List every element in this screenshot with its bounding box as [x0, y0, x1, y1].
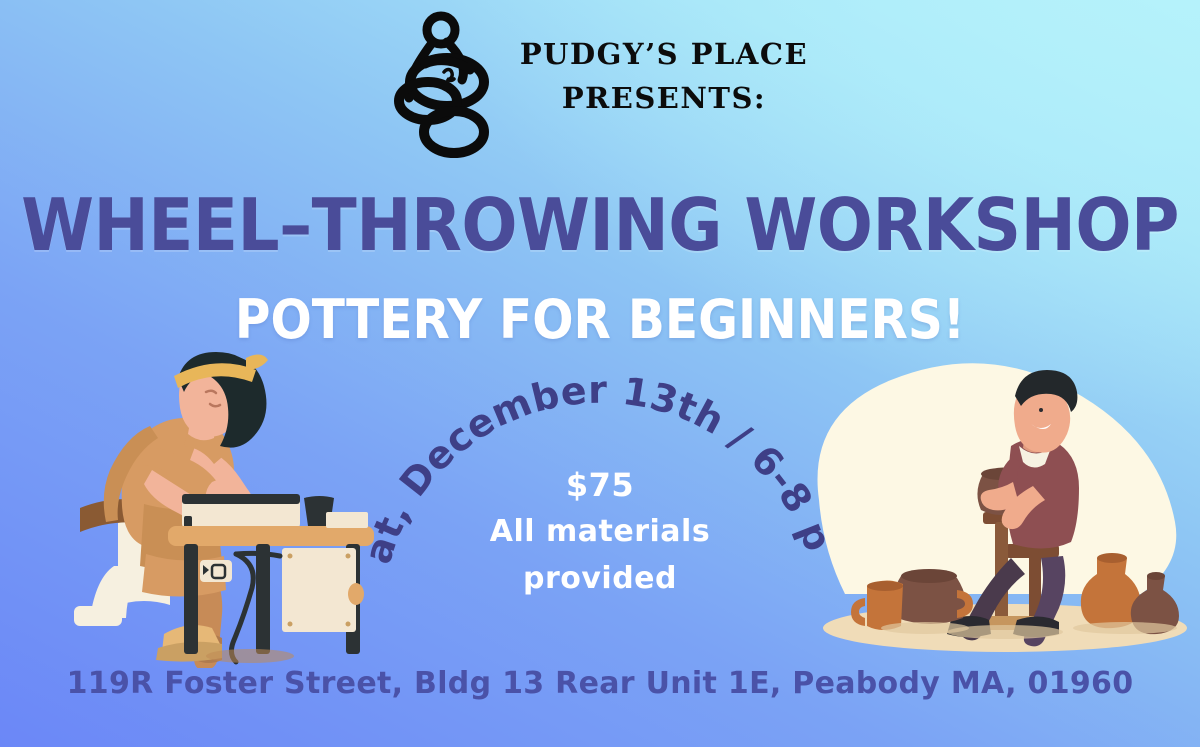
price-note-line2: provided: [440, 555, 760, 602]
pudgys-place-logo-icon: [392, 8, 504, 160]
brand-presents: PRESENTS:: [520, 76, 808, 120]
brand-header: PUDGY’S PLACE PRESENTS:: [0, 8, 1200, 160]
price-block: $75 All materials provided: [440, 462, 760, 602]
price-amount: $75: [440, 462, 760, 508]
event-poster: PUDGY’S PLACE PRESENTS: WHEEL–THROWING W…: [0, 0, 1200, 747]
woman-at-pottery-wheel-illustration: [60, 348, 400, 668]
poster-title: WHEEL–THROWING WORKSHOP: [0, 183, 1200, 267]
man-at-pottery-wheel-illustration: [805, 362, 1200, 662]
brand-text-block: PUDGY’S PLACE PRESENTS:: [520, 32, 808, 120]
venue-address: 119R Foster Street, Bldg 13 Rear Unit 1E…: [0, 666, 1200, 701]
price-note-line1: All materials: [440, 508, 760, 555]
brand-name: PUDGY’S PLACE: [520, 32, 808, 76]
poster-subtitle: POTTERY FOR BEGINNERS!: [0, 288, 1200, 351]
